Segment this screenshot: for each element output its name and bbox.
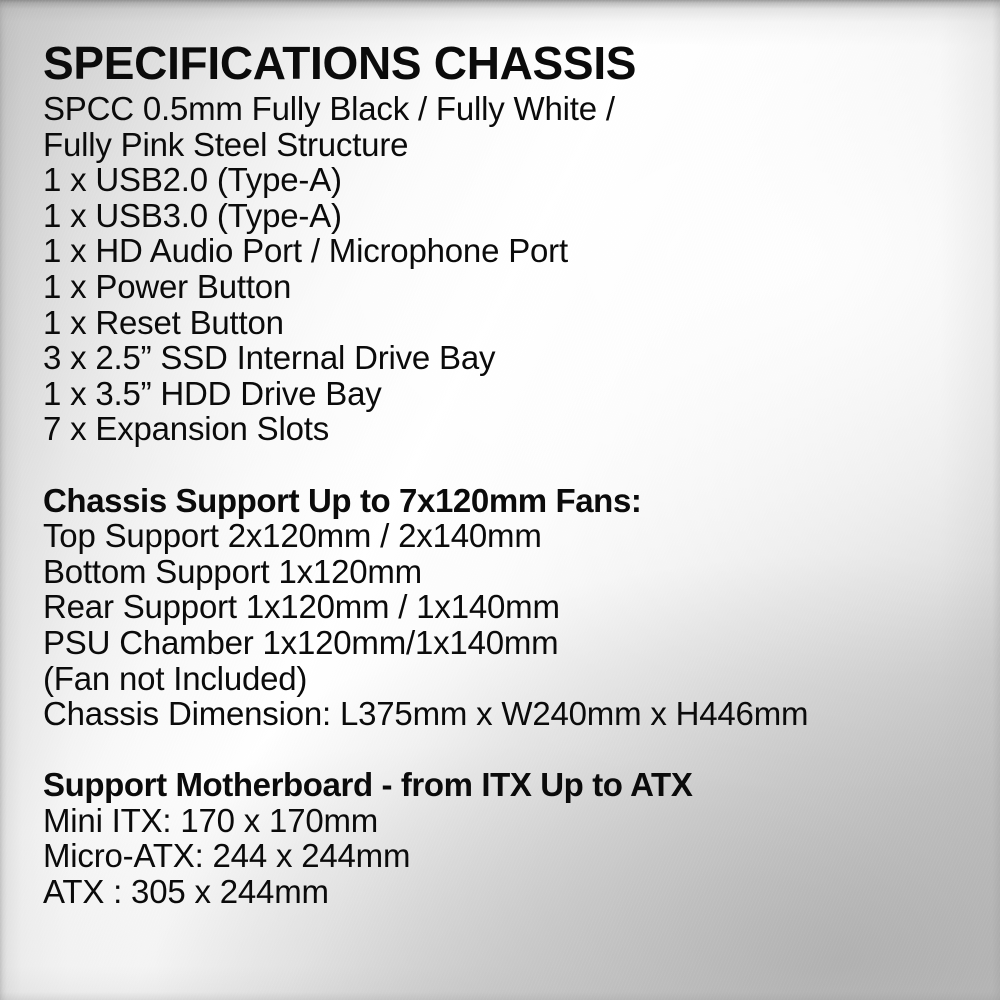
spec-line: 1 x HD Audio Port / Microphone Port xyxy=(43,233,973,269)
spec-line: 1 x USB2.0 (Type-A) xyxy=(43,162,973,198)
spec-line: SPCC 0.5mm Fully Black / Fully White / xyxy=(43,91,973,127)
section-heading: Support Motherboard - from ITX Up to ATX xyxy=(43,767,973,803)
spec-line: 1 x 3.5” HDD Drive Bay xyxy=(43,376,973,412)
spec-line: (Fan not Included) xyxy=(43,661,973,697)
spec-line: 1 x Power Button xyxy=(43,269,973,305)
spec-line: 7 x Expansion Slots xyxy=(43,411,973,447)
spec-line: Fully Pink Steel Structure xyxy=(43,127,973,163)
spec-line: Top Support 2x120mm / 2x140mm xyxy=(43,518,973,554)
spec-sheet-plate: SPECIFICATIONS CHASSIS SPCC 0.5mm Fully … xyxy=(0,0,1000,1000)
section-spacer xyxy=(43,732,973,768)
spec-line: 1 x USB3.0 (Type-A) xyxy=(43,198,973,234)
spec-line: Chassis Dimension: L375mm x W240mm x H44… xyxy=(43,696,973,732)
spec-line: PSU Chamber 1x120mm/1x140mm xyxy=(43,625,973,661)
spec-line: Rear Support 1x120mm / 1x140mm xyxy=(43,589,973,625)
spec-line: Bottom Support 1x120mm xyxy=(43,554,973,590)
section-spacer xyxy=(43,447,973,483)
spec-section-list: SPCC 0.5mm Fully Black / Fully White /Fu… xyxy=(43,91,973,910)
section-heading: Chassis Support Up to 7x120mm Fans: xyxy=(43,483,973,519)
page-title: SPECIFICATIONS CHASSIS xyxy=(43,42,973,85)
spec-line: 1 x Reset Button xyxy=(43,305,973,341)
spec-sheet-content: SPECIFICATIONS CHASSIS SPCC 0.5mm Fully … xyxy=(43,42,973,910)
spec-line: ATX : 305 x 244mm xyxy=(43,874,973,910)
spec-line: 3 x 2.5” SSD Internal Drive Bay xyxy=(43,340,973,376)
spec-line: Mini ITX: 170 x 170mm xyxy=(43,803,973,839)
spec-line: Micro-ATX: 244 x 244mm xyxy=(43,838,973,874)
